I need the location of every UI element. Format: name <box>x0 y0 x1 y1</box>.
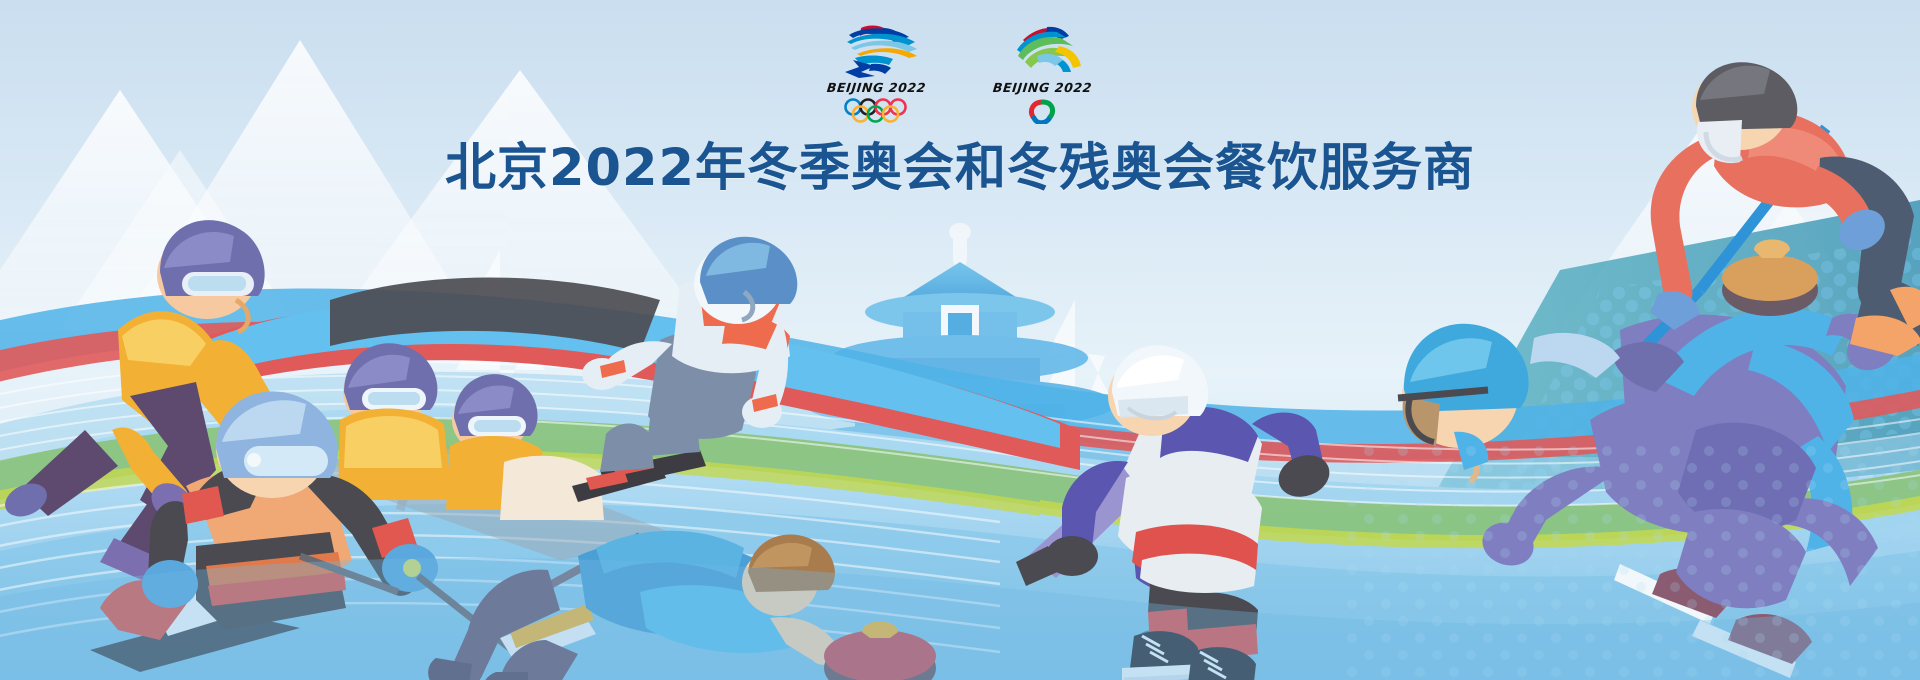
emblem-row: BEIJING 2022 <box>0 22 1920 124</box>
flying-high-emblem-icon <box>997 22 1089 78</box>
olympic-banner: BEIJING 2022 <box>0 0 1920 680</box>
winter-dream-emblem-icon <box>831 22 923 78</box>
paralympic-agitos-icon <box>997 98 1089 124</box>
olympic-wordmark: BEIJING 2022 <box>827 80 928 95</box>
paralympic-wordmark: BEIJING 2022 <box>993 80 1094 95</box>
page-title: 北京2022年冬季奥会和冬残奥会餐饮服务商 <box>0 126 1920 200</box>
beijing-2022-olympic-emblem[interactable]: BEIJING 2022 <box>817 22 937 124</box>
beijing-2022-paralympic-emblem[interactable]: BEIJING 2022 <box>983 22 1103 124</box>
olympic-rings-icon <box>831 98 923 124</box>
